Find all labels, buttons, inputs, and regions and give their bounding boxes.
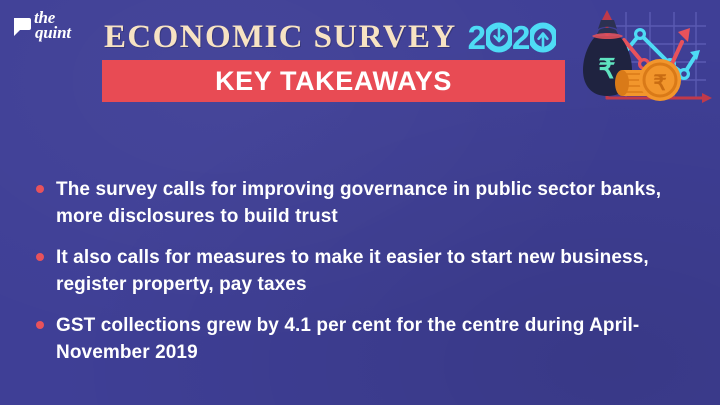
the-quint-logo[interactable]: the quint	[12, 12, 90, 52]
logo-line-2: quint	[35, 25, 71, 40]
list-item: The survey calls for improving governanc…	[36, 176, 696, 230]
bullet-dot-icon	[36, 321, 44, 329]
list-item: GST collections grew by 4.1 per cent for…	[36, 312, 696, 366]
list-item: It also calls for measures to make it ea…	[36, 244, 696, 298]
year-zero-up-arrow-icon	[530, 22, 556, 53]
gold-coin-icon: ₹	[639, 59, 681, 101]
rupee-symbol: ₹	[598, 54, 615, 84]
speech-bubble-icon	[12, 17, 32, 42]
bullet-text: The survey calls for improving governanc…	[56, 176, 681, 230]
year-digit-2a: 2	[468, 21, 486, 54]
logo-wordmark: the quint	[34, 10, 71, 40]
headline-year: 2 2	[468, 21, 557, 54]
year-digit-2b: 2	[512, 21, 530, 54]
key-takeaways-list: The survey calls for improving governanc…	[36, 176, 696, 380]
banner-label: KEY TAKEAWAYS	[215, 66, 452, 97]
economy-money-chart-illustration: ₹ ₹	[578, 6, 716, 118]
bullet-dot-icon	[36, 253, 44, 261]
key-takeaways-banner: KEY TAKEAWAYS	[102, 60, 565, 102]
bullet-text: It also calls for measures to make it ea…	[56, 244, 681, 298]
svg-text:₹: ₹	[653, 72, 666, 95]
bullet-text: GST collections grew by 4.1 per cent for…	[56, 312, 681, 366]
bullet-dot-icon	[36, 185, 44, 193]
headline-main-text: ECONOMIC SURVEY	[104, 19, 457, 56]
page-title: ECONOMIC SURVEY 2 2	[104, 17, 556, 57]
year-zero-down-arrow-icon	[486, 22, 512, 53]
